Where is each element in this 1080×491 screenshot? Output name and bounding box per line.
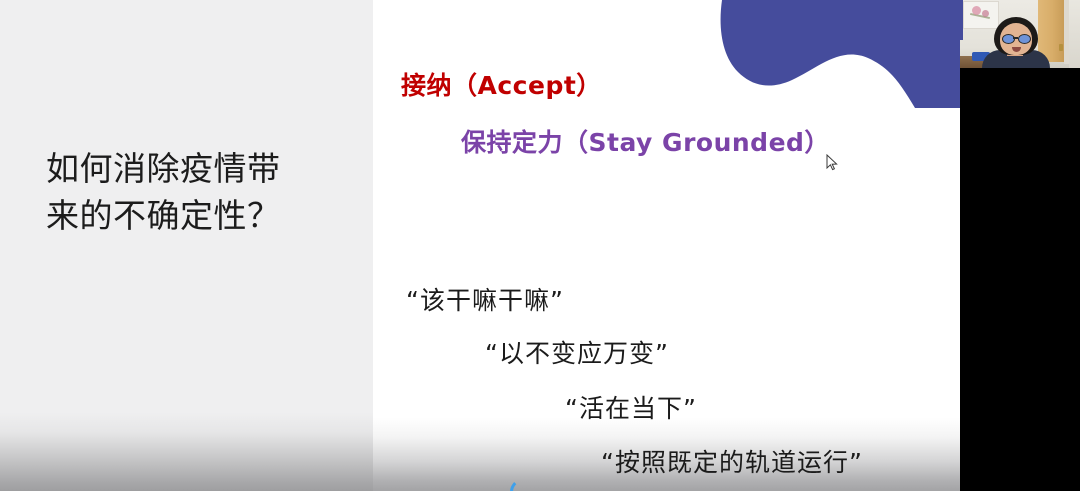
video-background-painting xyxy=(963,1,999,29)
slide-quote: “以不变应万变” xyxy=(485,334,669,370)
presenter-glasses-left-icon xyxy=(1002,34,1015,44)
video-background-door-handle xyxy=(1059,44,1063,51)
participant-video-tile[interactable] xyxy=(960,0,1080,68)
slide-quote: “该干嘛干嘛” xyxy=(406,281,564,317)
page-title: 如何消除疫情带 来的不确定性？ xyxy=(46,146,336,240)
slide-quote: “按照既定的轨道运行” xyxy=(601,443,863,479)
slide-quote: “活在当下” xyxy=(565,389,697,425)
presenter-glasses-bridge xyxy=(1013,37,1018,39)
screen: 如何消除疫情带 来的不确定性？ 接纳（Accept） 保持定力（Stay Gro… xyxy=(0,0,1080,491)
letterbox-right xyxy=(960,0,1080,491)
video-background-wall-right xyxy=(1069,0,1080,68)
video-edge-accent xyxy=(960,0,963,40)
loading-spinner-icon xyxy=(510,478,538,491)
slide-heading-accept: 接纳（Accept） xyxy=(401,66,602,102)
painting-flower xyxy=(972,6,981,15)
presenter-glasses-right-icon xyxy=(1018,34,1031,44)
question-panel: 如何消除疫情带 来的不确定性？ xyxy=(0,0,373,491)
presentation-slide[interactable]: 接纳（Accept） 保持定力（Stay Grounded） “该干嘛干嘛” “… xyxy=(373,0,960,491)
video-background-door-frame xyxy=(1064,0,1069,64)
painting-flower xyxy=(982,10,989,17)
slide-heading-stay-grounded: 保持定力（Stay Grounded） xyxy=(461,123,830,159)
blue-wave-blob-icon xyxy=(700,0,960,108)
